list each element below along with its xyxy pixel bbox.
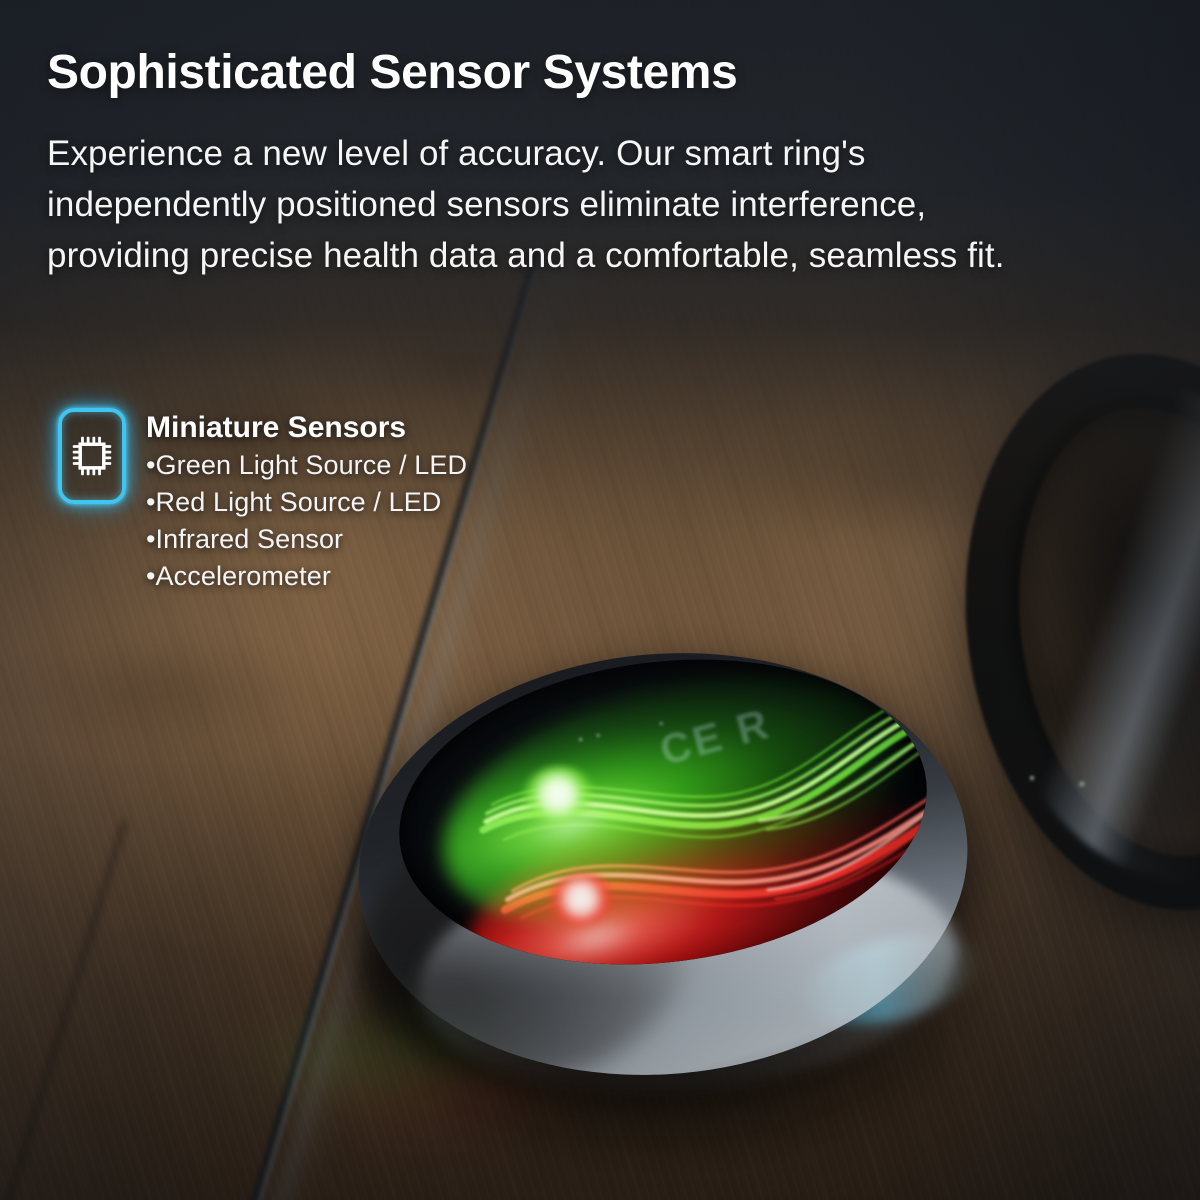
page-title: Sophisticated Sensor Systems [47, 46, 1047, 100]
list-item: •Green Light Source / LED [146, 447, 467, 484]
list-item: •Red Light Source / LED [146, 484, 467, 521]
list-item: •Infrared Sensor [146, 521, 467, 558]
feature-block-miniature-sensors: Miniature Sensors •Green Light Source / … [58, 408, 467, 595]
list-item: •Accelerometer [146, 558, 467, 595]
copy-layer: Sophisticated Sensor Systems Experience … [0, 0, 1200, 1200]
feature-text-column: Miniature Sensors •Green Light Source / … [146, 408, 467, 595]
microchip-icon [58, 408, 126, 504]
page-subcopy: Experience a new level of accuracy. Our … [47, 128, 1057, 281]
feature-title: Miniature Sensors [146, 410, 467, 445]
sensor-list: •Green Light Source / LED •Red Light Sou… [146, 447, 467, 595]
promo-canvas: CE R [0, 0, 1200, 1200]
